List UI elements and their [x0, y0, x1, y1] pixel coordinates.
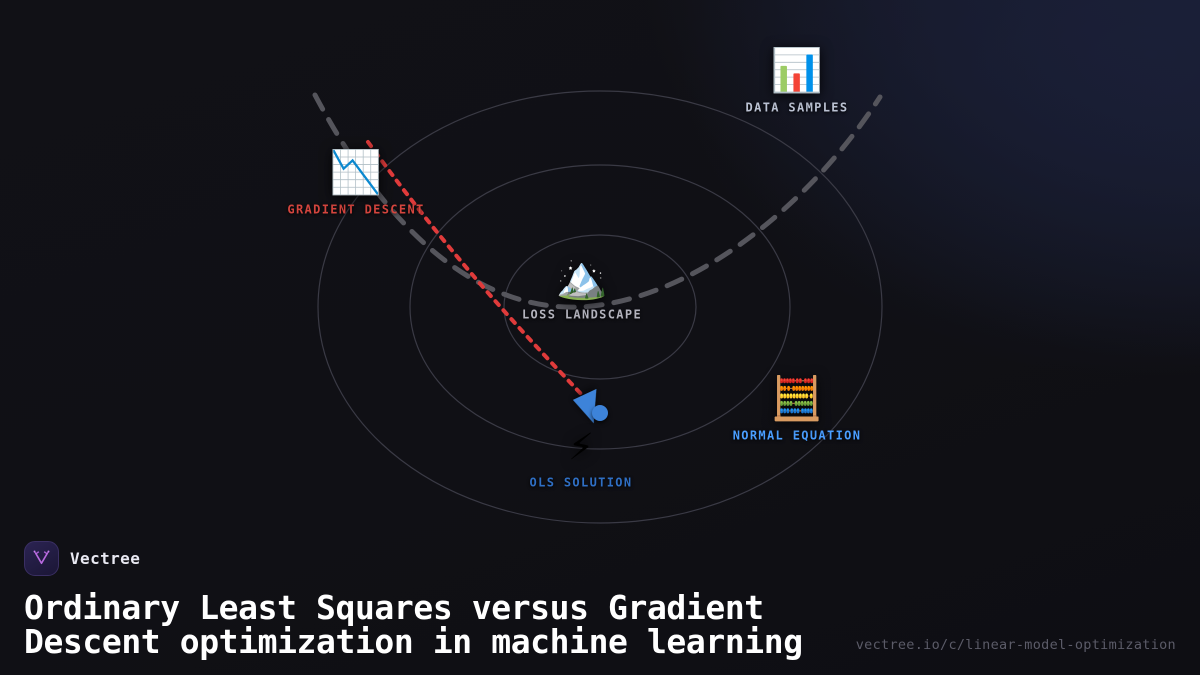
brand-row[interactable]: Vectree [24, 541, 1176, 576]
map-node-label-normal-equation: NORMAL EQUATION [733, 429, 862, 443]
map-node-label-loss-landscape: LOSS LANDSCAPE [522, 308, 642, 322]
lightning-bolt-icon: ⚡ [568, 425, 593, 467]
map-node-label-gradient-descent: GRADIENT DESCENT [287, 203, 424, 217]
map-node-normal-equation[interactable]: 🧮NORMAL EQUATION [733, 378, 862, 443]
vectree-v-logo-icon [32, 549, 51, 568]
map-node-label-ols-solution: OLS SOLUTION [530, 476, 633, 490]
snow-mountain-icon: 🏔️ [556, 257, 608, 299]
abacus-icon: 🧮 [771, 378, 823, 420]
map-node-data-samples[interactable]: 📊DATA SAMPLES [746, 50, 849, 115]
map-node-ols-solution[interactable]: ⚡OLS SOLUTION [530, 425, 633, 490]
bar-chart-icon: 📊 [771, 50, 823, 92]
chart-decreasing-icon: 📉 [330, 152, 382, 194]
page-title: Ordinary Least Squares versus Gradient D… [24, 591, 864, 659]
source-url: vectree.io/c/linear-model-optimization [856, 637, 1176, 653]
map-node-loss-landscape[interactable]: 🏔️LOSS LANDSCAPE [522, 257, 642, 322]
slide-canvas: 📊DATA SAMPLES📉GRADIENT DESCENT🏔️LOSS LAN… [0, 0, 1200, 675]
map-node-label-data-samples: DATA SAMPLES [746, 101, 849, 115]
map-node-gradient-descent[interactable]: 📉GRADIENT DESCENT [287, 152, 424, 217]
cursor-click-dot [592, 405, 608, 421]
brand-name: Vectree [70, 549, 140, 568]
vectree-v-logo-badge [24, 541, 59, 576]
footer: Vectree Ordinary Least Squares versus Gr… [0, 541, 1200, 675]
